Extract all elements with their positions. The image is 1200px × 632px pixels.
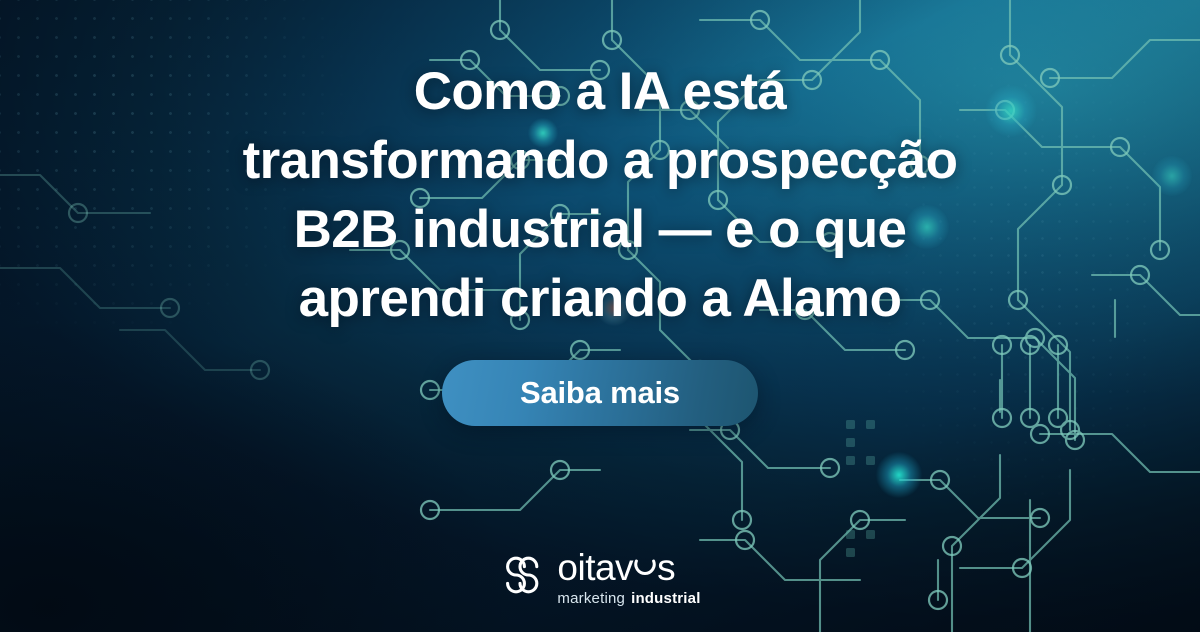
page-title: Como a IA está transformando a prospecçã… xyxy=(0,0,1200,334)
logo-tagline-marketing: marketing xyxy=(557,591,625,606)
logo-wordmark: oitav s xyxy=(557,549,700,586)
banner-content: Como a IA está transformando a prospecçã… xyxy=(0,0,1200,632)
headline-line-2: transformando a prospecção xyxy=(90,127,1110,196)
logo-tagline-industrial: industrial xyxy=(631,591,701,606)
promo-banner: Como a IA está transformando a prospecçã… xyxy=(0,0,1200,632)
headline-line-4: aprendi criando a Alamo xyxy=(90,265,1110,334)
cta-container: Saiba mais xyxy=(0,360,1200,426)
oitavos-interlocking-loops-icon xyxy=(499,552,545,603)
logo-tagline: marketing industrial xyxy=(557,591,700,606)
headline-line-3: B2B industrial — e o que xyxy=(90,196,1110,265)
oitavos-logo[interactable]: oitav s marketing industrial xyxy=(499,549,700,606)
saiba-mais-button[interactable]: Saiba mais xyxy=(442,360,758,426)
logo-wordmark-part-1: oitav xyxy=(557,549,633,586)
logo-wordmark-part-3: s xyxy=(657,549,675,586)
logo-wordmark-open-o-glyph xyxy=(633,551,657,575)
headline-line-1: Como a IA está xyxy=(90,58,1110,127)
logo-text-block: oitav s marketing industrial xyxy=(557,549,700,606)
